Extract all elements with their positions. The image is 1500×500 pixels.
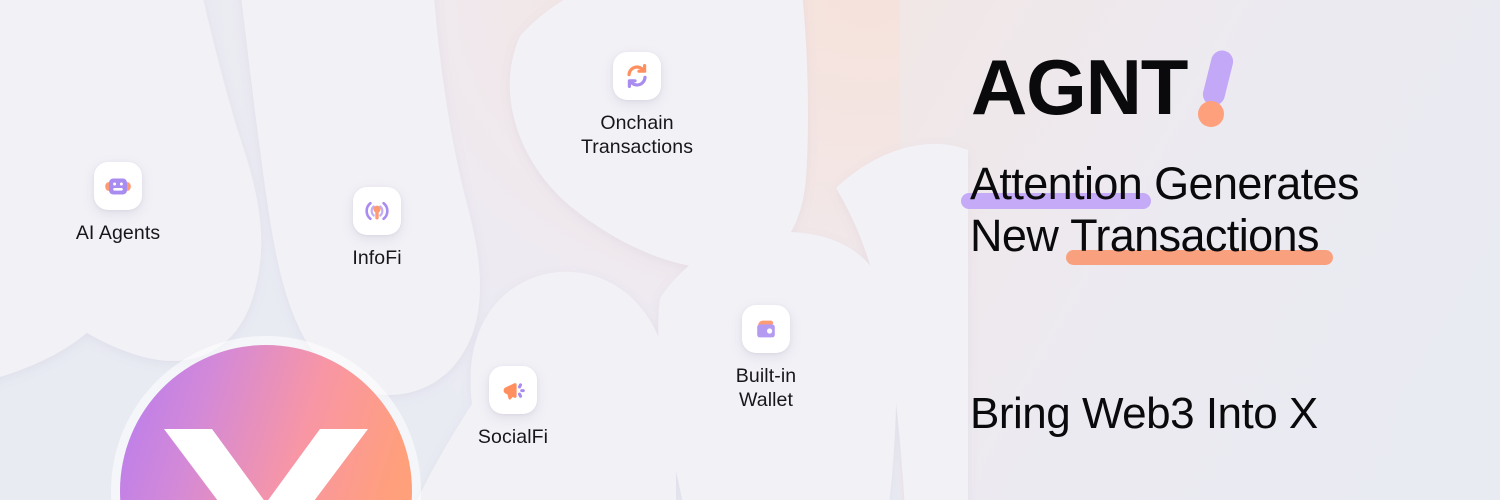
node-onchain-transactions[interactable]: Onchain Transactions <box>561 52 713 159</box>
node-builtin-wallet[interactable]: Built-in Wallet <box>716 305 816 412</box>
tagline-highlight-transactions: Transactions <box>1070 210 1319 262</box>
tagline-highlight-attention: Attention <box>970 158 1142 210</box>
brand-panel: AGNT Attention Generates New Transaction… <box>968 0 1500 500</box>
node-ai-agents[interactable]: AI Agents <box>63 162 173 245</box>
refresh-sync-icon <box>613 52 661 100</box>
robot-icon <box>94 162 142 210</box>
broadcast-icon <box>353 187 401 235</box>
node-label: InfoFi <box>352 246 401 270</box>
node-label: AI Agents <box>76 221 160 245</box>
tagline-line1-rest: Generates <box>1142 158 1359 209</box>
exclamation-mark-icon <box>1189 48 1247 134</box>
node-label: Built-in Wallet <box>736 364 796 412</box>
exclamation-dot <box>1198 101 1224 127</box>
node-label: SocialFi <box>478 425 548 449</box>
exclamation-bar <box>1201 48 1236 108</box>
hero-banner: AI Agents InfoFi Onchain Transactions <box>0 0 1500 500</box>
tagline-line2-prefix: New <box>970 210 1070 261</box>
tagline-line-1: Attention Generates <box>970 158 1490 210</box>
brand-name: AGNT <box>971 48 1187 126</box>
node-socialfi[interactable]: SocialFi <box>463 366 563 449</box>
subline: Bring Web3 Into X <box>970 388 1318 440</box>
tagline-line-2: New Transactions <box>970 210 1490 262</box>
node-label: Onchain Transactions <box>581 111 693 159</box>
x-logo-icon <box>148 429 384 500</box>
megaphone-icon <box>489 366 537 414</box>
tagline: Attention Generates New Transactions <box>970 158 1490 262</box>
wallet-icon <box>742 305 790 353</box>
brand-lockup: AGNT <box>971 48 1247 134</box>
node-infofi[interactable]: InfoFi <box>327 187 427 270</box>
